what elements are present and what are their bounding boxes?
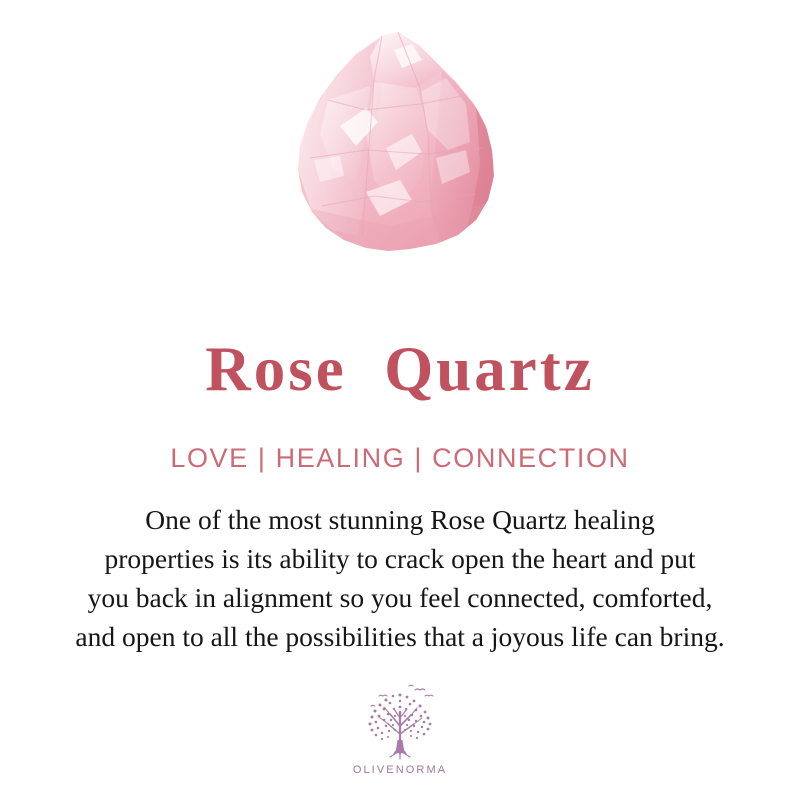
bird-icon	[371, 685, 433, 706]
product-info-card: Rose Quartz LOVE | HEALING | CONNECTION …	[0, 0, 800, 800]
crystal-body	[270, 30, 530, 270]
description-line: and open to all the possibilities that a…	[28, 617, 772, 656]
description-line: you back in alignment so you feel connec…	[28, 578, 772, 617]
rose-quartz-crystal-icon	[270, 30, 530, 270]
page-title: Rose Quartz	[0, 336, 800, 402]
keyword-subtitle: LOVE | HEALING | CONNECTION	[0, 443, 800, 474]
description-line: One of the most stunning Rose Quartz hea…	[28, 500, 772, 539]
description-line: properties is its ability to crack open …	[28, 539, 772, 578]
brand-logo: OLIVENORMA	[0, 682, 800, 776]
hero-image-container	[0, 0, 800, 300]
description-paragraph: One of the most stunning Rose Quartz hea…	[28, 500, 772, 656]
brand-wordmark: OLIVENORMA	[353, 764, 447, 776]
tree-of-life-icon	[357, 682, 443, 762]
